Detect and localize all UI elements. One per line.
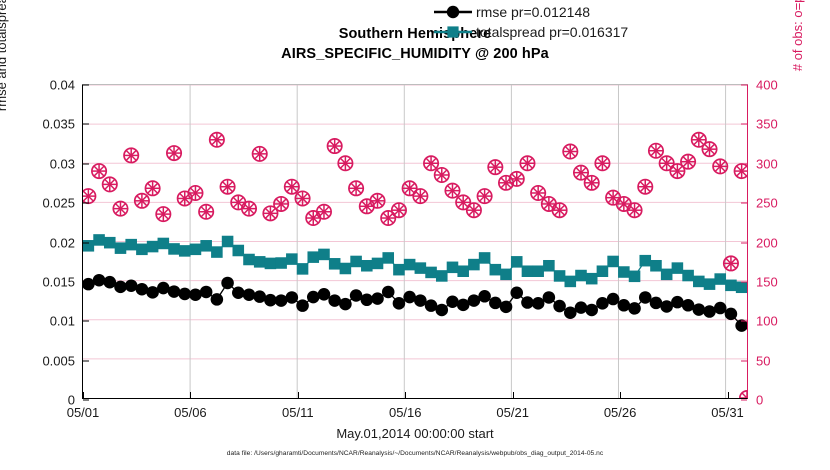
rmse-marker bbox=[371, 292, 384, 305]
legend-item-rmse: rmse pr=0.012148 bbox=[432, 2, 660, 22]
x-axis-tick-mark bbox=[620, 392, 621, 398]
rmse-marker bbox=[189, 288, 202, 301]
y-axis-right-tick-mark bbox=[741, 124, 747, 125]
rmse-marker bbox=[286, 291, 299, 304]
rmse-marker bbox=[296, 299, 309, 312]
y-axis-right-tick-label: 400 bbox=[756, 78, 778, 93]
totalspread-marker bbox=[704, 278, 716, 290]
chart-title-line1: Southern Hemisphere bbox=[0, 24, 830, 44]
y-axis-right-tick-mark bbox=[741, 360, 747, 361]
rmse-marker bbox=[393, 297, 406, 310]
y-axis-left-label: rmse and totalspread bbox=[0, 0, 9, 150]
x-axis-tick-mark bbox=[728, 392, 729, 398]
totalspread-marker bbox=[415, 262, 427, 274]
totalspread-marker bbox=[468, 259, 480, 271]
totalspread-marker bbox=[436, 270, 448, 282]
legend-item-totalspread: totalspread pr=0.016317 bbox=[432, 22, 660, 42]
y-axis-left-tick-label: 0.035 bbox=[42, 117, 75, 132]
rmse-marker bbox=[639, 291, 652, 304]
y-axis-right-tick-label: 250 bbox=[756, 196, 778, 211]
totalspread-marker bbox=[361, 260, 373, 272]
rmse-marker bbox=[414, 294, 427, 307]
totalspread-marker bbox=[490, 264, 502, 276]
rmse-marker bbox=[478, 290, 491, 303]
y-axis-left-tick-mark bbox=[83, 85, 89, 86]
rmse-marker bbox=[575, 301, 588, 314]
totalspread-marker bbox=[211, 246, 223, 258]
totalspread-marker bbox=[136, 244, 148, 256]
rmse-marker bbox=[725, 308, 738, 321]
y-axis-right-tick-mark bbox=[741, 400, 747, 401]
rmse-marker bbox=[136, 283, 149, 296]
rmse-marker bbox=[328, 294, 341, 307]
plot-area: 00.0050.010.0150.020.0250.030.0350.04050… bbox=[82, 84, 748, 399]
totalspread-marker bbox=[222, 236, 234, 248]
rmse-marker bbox=[446, 295, 459, 308]
rmse-marker bbox=[93, 274, 106, 287]
y-axis-right-tick-label: 0 bbox=[756, 393, 763, 408]
y-axis-left-tick-mark bbox=[83, 203, 89, 204]
rmse-marker bbox=[200, 286, 213, 299]
totalspread-marker bbox=[522, 265, 534, 277]
totalspread-marker bbox=[297, 263, 309, 275]
rmse-marker bbox=[425, 299, 438, 312]
rmse-marker bbox=[168, 285, 181, 298]
rmse-marker bbox=[489, 297, 502, 310]
totalspread-marker bbox=[500, 269, 512, 281]
x-axis-tick-label: 05/31 bbox=[711, 405, 744, 420]
totalspread-marker bbox=[532, 265, 544, 277]
totalspread-marker bbox=[425, 267, 437, 279]
totalspread-marker bbox=[393, 264, 405, 276]
rmse-marker bbox=[693, 303, 706, 316]
totalspread-marker bbox=[254, 256, 266, 268]
rmse-marker bbox=[157, 282, 170, 295]
totalspread-marker bbox=[372, 258, 384, 270]
y-axis-left-tick-label: 0.025 bbox=[42, 196, 75, 211]
rmse-marker bbox=[275, 294, 288, 307]
totalspread-marker bbox=[115, 242, 127, 254]
y-axis-right-tick-mark bbox=[741, 85, 747, 86]
y-axis-right-tick-label: 300 bbox=[756, 156, 778, 171]
chart-title: Southern Hemisphere AIRS_SPECIFIC_HUMIDI… bbox=[0, 24, 830, 64]
x-axis-label: May.01,2014 00:00:00 start bbox=[82, 426, 748, 441]
totalspread-marker bbox=[350, 256, 362, 268]
rmse-marker bbox=[650, 297, 663, 310]
x-axis-tick-label: 05/01 bbox=[67, 405, 100, 420]
totalspread-marker bbox=[714, 273, 726, 285]
legend-marker-circle-icon bbox=[432, 4, 474, 20]
totalspread-marker bbox=[318, 249, 330, 261]
rmse-marker bbox=[618, 299, 631, 312]
totalspread-marker bbox=[125, 239, 137, 251]
totalspread-marker bbox=[736, 282, 747, 294]
rmse-marker bbox=[243, 288, 256, 301]
y-axis-left-tick-mark bbox=[83, 281, 89, 282]
rmse-marker bbox=[510, 286, 523, 299]
rmse-marker bbox=[211, 293, 224, 306]
rmse-marker bbox=[457, 299, 470, 312]
rmse-marker bbox=[521, 296, 534, 309]
y-axis-right-tick-label: 350 bbox=[756, 117, 778, 132]
rmse-marker bbox=[671, 296, 684, 309]
totalspread-marker bbox=[243, 254, 255, 266]
totalspread-marker bbox=[554, 270, 566, 282]
y-axis-right-tick-label: 100 bbox=[756, 314, 778, 329]
totalspread-marker bbox=[479, 252, 491, 264]
totalspread-marker bbox=[639, 255, 651, 267]
totalspread-marker bbox=[607, 256, 619, 268]
totalspread-marker bbox=[233, 245, 245, 257]
rmse-marker bbox=[178, 288, 191, 301]
totalspread-marker bbox=[682, 270, 694, 282]
rmse-marker bbox=[114, 281, 127, 294]
x-axis-tick-label: 05/06 bbox=[174, 405, 207, 420]
y-axis-right-tick-label: 200 bbox=[756, 235, 778, 250]
y-axis-left-tick-mark bbox=[83, 124, 89, 125]
y-axis-right-tick-mark bbox=[741, 281, 747, 282]
y-axis-right-tick-label: 150 bbox=[756, 274, 778, 289]
rmse-marker bbox=[146, 286, 159, 299]
totalspread-marker bbox=[543, 260, 555, 272]
totalspread-marker bbox=[382, 252, 394, 264]
y-axis-left-tick-label: 0.03 bbox=[50, 156, 75, 171]
rmse-marker bbox=[532, 297, 545, 310]
legend-marker-square-icon bbox=[432, 24, 474, 40]
rmse-marker bbox=[703, 305, 716, 318]
totalspread-marker bbox=[265, 258, 277, 270]
plot-series-layer bbox=[83, 85, 747, 398]
y-axis-right-tick-mark bbox=[741, 321, 747, 322]
rmse-marker bbox=[714, 302, 727, 315]
y-axis-left-tick-mark bbox=[83, 321, 89, 322]
totalspread-marker bbox=[597, 265, 609, 277]
y-axis-left-tick-label: 0.04 bbox=[50, 78, 75, 93]
rmse-marker bbox=[221, 277, 234, 290]
y-axis-left-tick-mark bbox=[83, 242, 89, 243]
rmse-marker bbox=[628, 302, 641, 315]
x-axis-tick-label: 05/26 bbox=[604, 405, 637, 420]
totalspread-marker bbox=[586, 273, 598, 285]
x-axis-tick-label: 05/21 bbox=[496, 405, 529, 420]
totalspread-marker bbox=[200, 240, 212, 252]
x-axis-tick-mark bbox=[298, 392, 299, 398]
totalspread-marker bbox=[725, 280, 737, 292]
totalspread-marker bbox=[93, 234, 105, 246]
totalspread-marker bbox=[307, 251, 319, 263]
totalspread-marker bbox=[340, 263, 352, 275]
rmse-marker bbox=[543, 291, 556, 304]
chart-legend: rmse pr=0.012148 totalspread pr=0.016317 bbox=[432, 2, 660, 42]
totalspread-marker bbox=[447, 262, 459, 274]
legend-label-totalspread: totalspread pr=0.016317 bbox=[474, 24, 628, 40]
rmse-marker bbox=[682, 299, 695, 312]
legend-label-rmse: rmse pr=0.012148 bbox=[474, 4, 590, 20]
rmse-marker bbox=[307, 291, 320, 304]
y-axis-left-tick-mark bbox=[83, 163, 89, 164]
totalspread-marker bbox=[629, 271, 641, 283]
y-axis-left-tick-label: 0.015 bbox=[42, 274, 75, 289]
totalspread-marker bbox=[286, 253, 298, 265]
rmse-marker bbox=[339, 298, 352, 311]
rmse-marker bbox=[564, 306, 577, 319]
figure-canvas: Southern Hemisphere AIRS_SPECIFIC_HUMIDI… bbox=[0, 0, 830, 470]
totalspread-marker bbox=[158, 238, 170, 250]
chart-title-line2: AIRS_SPECIFIC_HUMIDITY @ 200 hPa bbox=[0, 44, 830, 64]
rmse-marker bbox=[435, 304, 448, 317]
totalspread-marker bbox=[457, 265, 469, 277]
rmse-marker bbox=[403, 291, 416, 304]
x-axis-tick-mark bbox=[83, 392, 84, 398]
totalspread-marker bbox=[275, 257, 287, 269]
totalspread-marker bbox=[672, 262, 684, 274]
totalspread-marker bbox=[329, 258, 341, 270]
rmse-marker bbox=[232, 286, 245, 299]
y-axis-left-tick-label: 0.01 bbox=[50, 314, 75, 329]
totalspread-marker bbox=[404, 259, 416, 271]
totalspread-marker bbox=[693, 276, 705, 288]
y-axis-left-tick-mark bbox=[83, 400, 89, 401]
rmse-marker bbox=[596, 297, 609, 310]
totalspread-marker bbox=[565, 276, 577, 288]
rmse-marker bbox=[361, 294, 374, 307]
totalspread-marker bbox=[661, 269, 673, 281]
y-axis-left-tick-mark bbox=[83, 360, 89, 361]
rmse-marker bbox=[553, 300, 566, 313]
rmse-marker bbox=[318, 288, 331, 301]
totalspread-marker bbox=[511, 256, 523, 268]
totalspread-marker bbox=[147, 241, 159, 253]
y-axis-right-label: # of obs: o=possible; *=evaluated bbox=[790, 0, 805, 110]
y-axis-left-tick-label: 0.005 bbox=[42, 353, 75, 368]
x-axis-tick-label: 05/16 bbox=[389, 405, 422, 420]
totalspread-marker bbox=[104, 237, 116, 249]
rmse-marker bbox=[660, 300, 673, 313]
rmse-marker bbox=[468, 294, 481, 307]
rmse-marker bbox=[264, 294, 277, 307]
rmse-marker bbox=[585, 304, 598, 317]
rmse-marker bbox=[125, 279, 138, 292]
y-axis-left-tick-label: 0.02 bbox=[50, 235, 75, 250]
totalspread-marker bbox=[650, 260, 662, 272]
totalspread-marker bbox=[618, 266, 630, 278]
rmse-marker bbox=[382, 286, 395, 299]
y-axis-right-tick-mark bbox=[741, 242, 747, 243]
totalspread-marker bbox=[575, 270, 587, 282]
y-axis-right-tick-label: 50 bbox=[756, 353, 770, 368]
x-axis-tick-label: 05/11 bbox=[282, 405, 314, 420]
rmse-marker bbox=[607, 293, 620, 306]
totalspread-marker bbox=[179, 245, 191, 257]
x-axis-tick-mark bbox=[190, 392, 191, 398]
y-axis-right-tick-mark bbox=[741, 163, 747, 164]
rmse-marker bbox=[350, 289, 363, 302]
x-axis-tick-mark bbox=[513, 392, 514, 398]
y-axis-right-tick-mark bbox=[741, 203, 747, 204]
totalspread-marker bbox=[190, 244, 202, 256]
rmse-marker bbox=[500, 301, 513, 314]
x-axis-tick-mark bbox=[405, 392, 406, 398]
totalspread-marker bbox=[168, 243, 180, 255]
rmse-marker bbox=[103, 276, 116, 289]
rmse-marker bbox=[253, 290, 266, 303]
data-file-note: data file: /Users/gharamti/Documents/NCA… bbox=[0, 450, 830, 457]
